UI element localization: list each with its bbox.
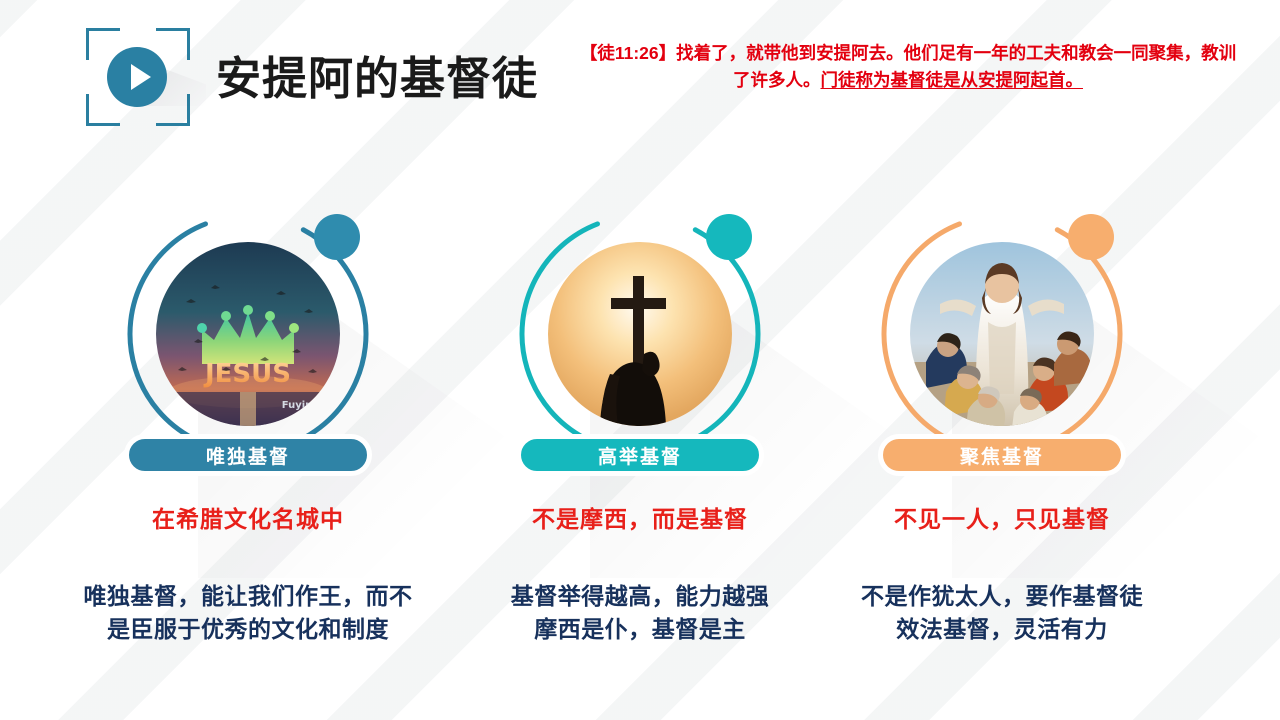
bracket-corner-bottom-right	[156, 94, 190, 126]
card-label-text: 唯独基督	[206, 442, 290, 469]
card-body-line: 效法基督，灵活有力	[807, 613, 1197, 646]
card-image-jesus-crown: JESUS Fuyin11	[156, 242, 340, 426]
card-body-text: 基督举得越高，能力越强 摩西是仆，基督是主	[445, 580, 835, 647]
body-text-row: 唯独基督，能让我们作王，而不 是臣服于优秀的文化和制度 基督举得越高，能力越强 …	[0, 580, 1280, 690]
headlines-row: 在希腊文化名城中 不是摩西，而是基督 不见一人，只见基督	[0, 500, 1280, 560]
card-label-text: 高举基督	[598, 442, 682, 469]
card-sole-christ[interactable]: JESUS Fuyin11 唯独基督	[78, 196, 418, 496]
card-headline: 在希腊文化名城中	[78, 500, 418, 534]
slide-canvas: 安提阿的基督徒 【徒11:26】找着了，就带他到安提阿去。他们足有一年的工夫和教…	[0, 0, 1280, 720]
card-body-line: 唯独基督，能让我们作王，而不	[53, 580, 443, 613]
card-label-pill[interactable]: 聚焦基督	[878, 434, 1126, 476]
card-accent-dot	[706, 214, 752, 260]
bracket-corner-bottom-left	[86, 94, 120, 126]
card-accent-dot	[1068, 214, 1114, 260]
play-triangle-icon	[131, 64, 151, 90]
cards-row: JESUS Fuyin11 唯独基督	[0, 196, 1280, 496]
bracket-corner-top-right	[156, 28, 190, 60]
page-title: 安提阿的基督徒	[216, 42, 538, 107]
card-label-pill[interactable]: 唯独基督	[124, 434, 372, 476]
card-body-text: 唯独基督，能让我们作王，而不 是臣服于优秀的文化和制度	[53, 580, 443, 647]
svg-text:JESUS: JESUS	[203, 359, 291, 389]
card-image-cross-silhouette	[548, 242, 732, 426]
card-lift-up-christ[interactable]: 高举基督	[470, 196, 810, 496]
card-headline: 不是摩西，而是基督	[470, 500, 810, 534]
card-focus-on-christ[interactable]: 聚焦基督	[832, 196, 1172, 496]
card-body-line: 不是作犹太人，要作基督徒	[807, 580, 1197, 613]
card-body-text: 不是作犹太人，要作基督徒 效法基督，灵活有力	[807, 580, 1197, 647]
card-body-line: 摩西是仆，基督是主	[445, 613, 835, 646]
card-body-line: 是臣服于优秀的文化和制度	[53, 613, 443, 646]
card-body-line: 基督举得越高，能力越强	[445, 580, 835, 613]
play-button-icon	[86, 28, 190, 126]
card-headline: 不见一人，只见基督	[832, 500, 1172, 534]
slide-header: 安提阿的基督徒 【徒11:26】找着了，就带他到安提阿去。他们足有一年的工夫和教…	[0, 0, 1280, 150]
card-label-pill[interactable]: 高举基督	[516, 434, 764, 476]
card-image-jesus-disciples	[910, 242, 1094, 426]
card-label-text: 聚焦基督	[960, 442, 1044, 469]
card-accent-dot	[314, 214, 360, 260]
scripture-emphasis-text: 门徒称为基督徒是从安提阿起首。	[821, 70, 1084, 90]
scripture-reference: 【徒11:26】找着了，就带他到安提阿去。他们足有一年的工夫和教会一同聚集，教训…	[578, 40, 1238, 94]
